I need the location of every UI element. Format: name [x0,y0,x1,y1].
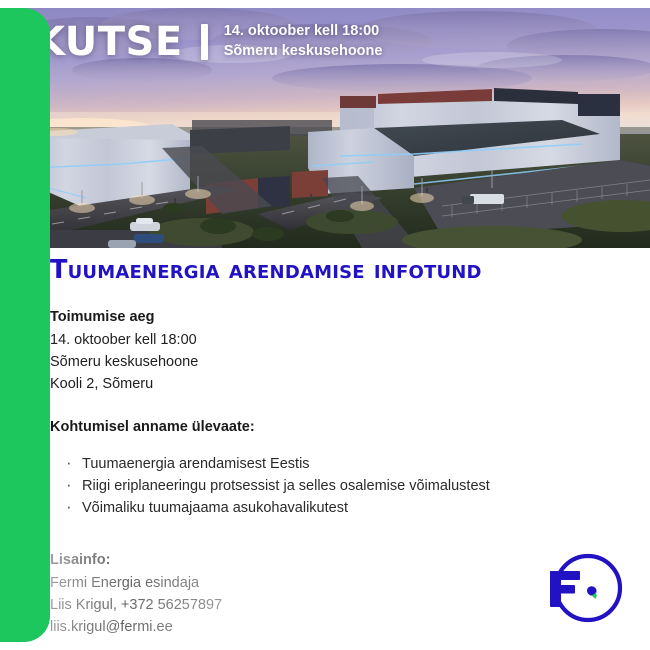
logo-mark-icon [536,542,628,634]
when-heading: Toimumise aeg [50,307,630,329]
overview-heading: Kohtumisel anname ülevaate: [50,417,630,439]
list-item: Võimaliku tuumajaama asukohavalikutest [64,498,630,519]
when-line: 14. oktoober kell 18:00 [50,329,630,351]
kutse-badge: KUTSE [34,22,183,62]
page-title: Tuumaenergia arendamise infotund [50,256,630,285]
when-line: Sõmeru keskusehoone [50,351,630,373]
list-item: Tuumaenergia arendamisest Eestis [64,454,630,475]
fermi-energia-logo [536,542,628,634]
when-block: Toimumise aeg 14. oktoober kell 18:00 Sõ… [50,307,630,396]
contact-heading-text: Lisainfo [50,552,106,568]
overview-block: Kohtumisel anname ülevaate: Tuumaenergia… [50,417,630,519]
hero-subtitle-line-1: 14. oktoober kell 18:00 [224,22,383,42]
list-item: Riigi eriplaneeringu protsessist ja sell… [64,476,630,497]
when-line: Kooli 2, Sõmeru [50,373,630,395]
hero-text-block: KUTSE 14. oktoober kell 18:00 Sõmeru kes… [34,22,382,62]
hero-subtitle-line-2: Sõmeru keskusehoone [224,42,383,62]
overview-list: Tuumaenergia arendamisest Eestis Riigi e… [50,454,630,519]
invitation-poster: KUTSE 14. oktoober kell 18:00 Sõmeru kes… [0,0,650,650]
green-accent-bar [0,8,50,642]
hero-separator-bar [201,24,208,60]
hero-subtitle: 14. oktoober kell 18:00 Sõmeru keskuseho… [224,22,383,61]
contact-heading-suffix: : [106,552,111,568]
